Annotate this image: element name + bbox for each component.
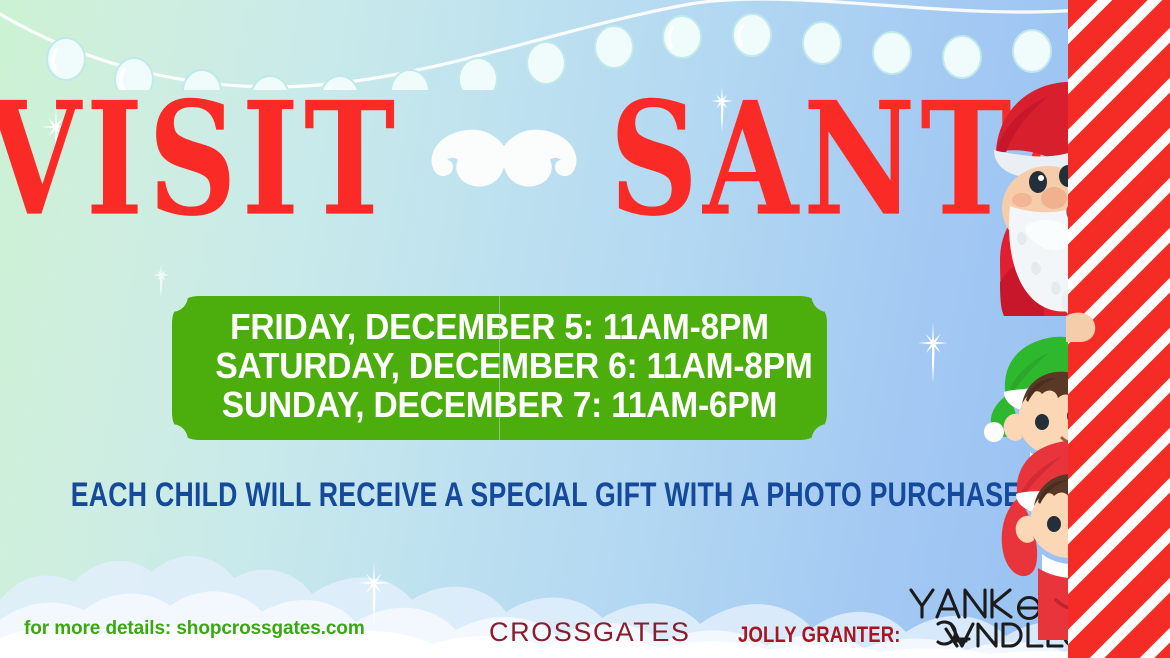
headline-word-visit: VISIT [0, 82, 401, 238]
character-group [970, 0, 1170, 658]
details-url[interactable]: for more details: shopcrossgates.com [24, 618, 365, 640]
sparkle-icon [912, 312, 954, 374]
sparkle-icon [150, 258, 172, 292]
santa-visit-poster: VISIT SANTA FRIDAY, DECEMBER 5: 11AM-8PM… [0, 0, 1170, 658]
sponsor-label: JOLLY GRANTER: [738, 622, 901, 648]
page-title: VISIT SANTA [0, 96, 1098, 224]
crossgates-logo: CROSSGATES [489, 617, 691, 648]
date-line-friday: FRIDAY, DECEMBER 5: 11AM-8PM [215, 307, 783, 346]
gift-tagline: EACH CHILD WILL RECEIVE A SPECIAL GIFT W… [71, 475, 940, 515]
date-line-saturday: SATURDAY, DECEMBER 6: 11AM-8PM [215, 346, 783, 385]
mustache-icon [429, 124, 579, 196]
event-dates-panel: FRIDAY, DECEMBER 5: 11AM-8PM SATURDAY, D… [172, 296, 827, 440]
date-line-sunday: SUNDAY, DECEMBER 7: 11AM-6PM [215, 385, 783, 424]
